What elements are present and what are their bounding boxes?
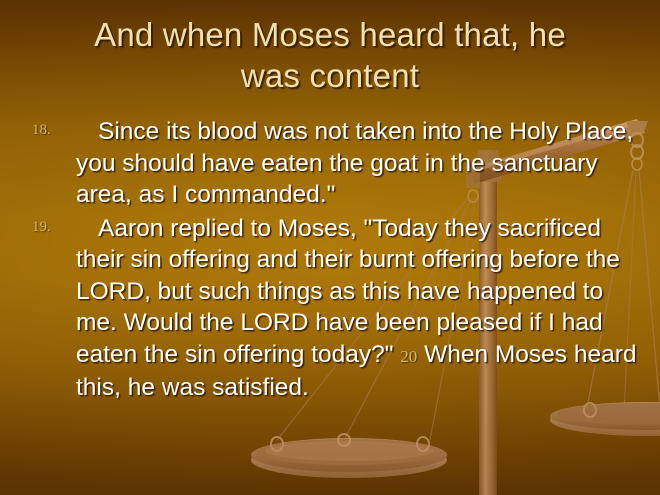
verse-body: Since its blood was not taken into the H… bbox=[76, 118, 633, 208]
inline-verse-number: 20 bbox=[400, 347, 417, 366]
slide-body: 18. Since its blood was not taken into t… bbox=[24, 116, 640, 406]
verse-item: 19. Aaron replied to Moses, "Today they … bbox=[24, 213, 640, 404]
verse-number: 18. bbox=[32, 122, 51, 139]
slide-title-line-2: was content bbox=[34, 55, 626, 96]
verse-text: Aaron replied to Moses, "Today they sacr… bbox=[76, 213, 640, 404]
verse-item: 18. Since its blood was not taken into t… bbox=[24, 116, 640, 211]
presentation-slide: And when Moses heard that, he was conten… bbox=[0, 0, 660, 495]
verse-text: Since its blood was not taken into the H… bbox=[76, 116, 640, 211]
slide-title: And when Moses heard that, he was conten… bbox=[34, 14, 626, 96]
verse-number: 19. bbox=[32, 219, 51, 236]
slide-title-line-1: And when Moses heard that, he bbox=[34, 14, 626, 55]
